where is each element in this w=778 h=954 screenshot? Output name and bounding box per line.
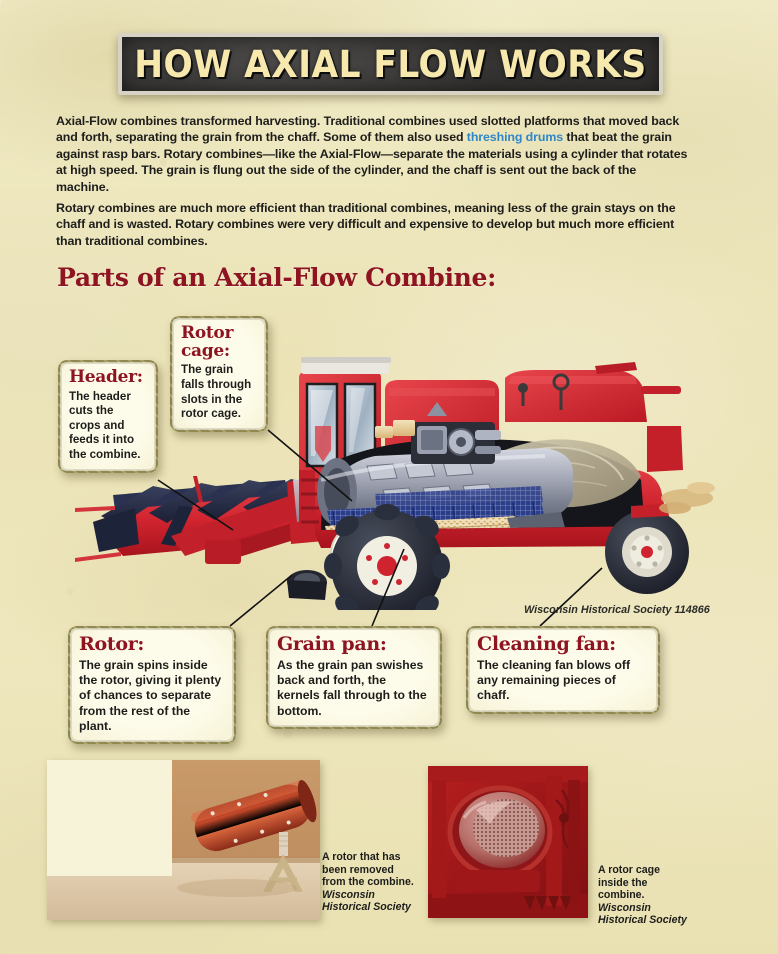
threshing-drums-link[interactable]: threshing drums xyxy=(467,130,563,144)
callout-rotor-title: Rotor: xyxy=(79,635,225,655)
callout-cleaning-fan-title: Cleaning fan: xyxy=(477,635,649,655)
front-drive-wheel xyxy=(324,504,450,610)
callout-rotor-body: The grain spins inside the rotor, giving… xyxy=(79,658,225,734)
callout-rotor-cage-title: Rotor cage: xyxy=(181,325,257,360)
rotor-photo-caption: A rotor that has been removed from the c… xyxy=(322,851,418,914)
callout-header-body: The header cuts the crops and feeds it i… xyxy=(69,390,147,463)
callout-grain-pan-title: Grain pan: xyxy=(277,635,431,655)
rotor-photo-source: Wisconsin Historical Society xyxy=(322,889,418,914)
callout-rotor[interactable]: Rotor: The grain spins inside the rotor,… xyxy=(68,626,236,744)
rotor-cage-photo-source: Wisconsin Historical Society xyxy=(598,902,690,927)
callout-header-title: Header: xyxy=(69,369,147,387)
page-title-banner: HOW AXIAL FLOW WORKS xyxy=(118,33,663,95)
rotor-cage-photo xyxy=(428,766,588,918)
illustration-credit: Wisconsin Historical Society 114866 xyxy=(524,604,710,616)
callout-rotor-cage[interactable]: Rotor cage: The grain falls through slot… xyxy=(170,316,268,432)
cream-overlay-panel xyxy=(47,760,172,876)
callout-rotor-cage-body: The grain falls through slots in the rot… xyxy=(181,363,257,421)
rotor-cage-photo-caption: A rotor cage inside the combine. Wiscons… xyxy=(598,864,690,927)
intro-paragraph-1: Axial-Flow combines transformed harvesti… xyxy=(56,113,690,195)
grain-spill xyxy=(659,482,715,514)
page-title: HOW AXIAL FLOW WORKS xyxy=(134,43,646,86)
callout-cleaning-fan-body: The cleaning fan blows off any remaining… xyxy=(477,658,649,704)
intro-paragraph-2: Rotary combines are much more efficient … xyxy=(56,200,690,249)
callout-grain-pan-body: As the grain pan swishes back and forth,… xyxy=(277,658,431,719)
callout-header[interactable]: Header: The header cuts the crops and fe… xyxy=(58,360,158,473)
rotor-photo-caption-text: A rotor that has been removed from the c… xyxy=(322,851,414,888)
callout-cleaning-fan[interactable]: Cleaning fan: The cleaning fan blows off… xyxy=(466,626,660,714)
callout-grain-pan[interactable]: Grain pan: As the grain pan swishes back… xyxy=(266,626,442,729)
rotor-cage-photo-caption-text: A rotor cage inside the combine. xyxy=(598,864,660,901)
section-heading: Parts of an Axial-Flow Combine: xyxy=(57,263,496,292)
header-assembly xyxy=(75,474,335,564)
